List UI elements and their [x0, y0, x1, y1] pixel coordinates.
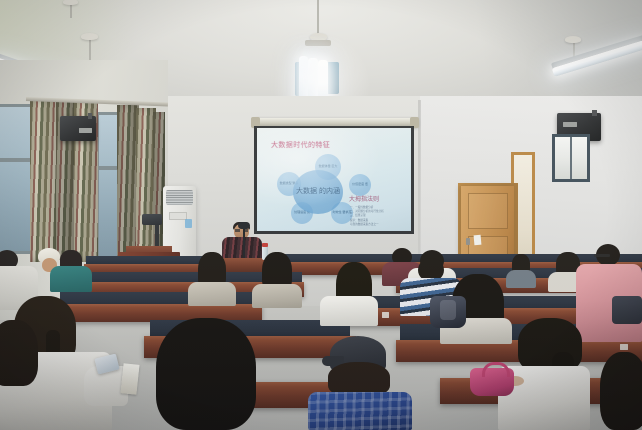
audience-torso-back-2 — [252, 284, 302, 308]
door-panel-upper — [468, 193, 508, 229]
audience-torso-white-blouse — [320, 296, 378, 326]
light-cap-left-far — [63, 0, 78, 5]
backpack-strap — [440, 300, 456, 320]
curtain-left-1 — [30, 100, 56, 262]
audience-hair-right-edge — [600, 352, 642, 430]
pink-handbag-handle — [482, 362, 510, 377]
presenter-glasses — [235, 229, 248, 232]
audience-torso-plaid — [308, 392, 412, 430]
light-cap-right-far — [565, 36, 581, 43]
desk-tag-c — [382, 312, 389, 318]
audience-torso-teal — [50, 266, 92, 292]
handbag-right — [612, 296, 642, 324]
audience-glasses-pink-shirt — [594, 254, 610, 257]
screen-glare — [257, 128, 411, 231]
speaker-bracket-left — [88, 113, 92, 119]
audience-torso-door-1 — [506, 270, 536, 288]
interior-window-mullion — [570, 137, 572, 179]
ac-grille — [166, 190, 193, 205]
microphone-stand — [243, 228, 245, 258]
light-cap-left-near — [81, 33, 98, 40]
audience-torso-back-1 — [188, 282, 236, 306]
projection-screen-surface: 大数据时代的特征 数据体量 巨大 数据类型 繁多 价值密度 低 处理速度 快 时… — [257, 128, 411, 231]
speaker-label-left — [79, 128, 92, 133]
notebook-front-left — [120, 363, 139, 395]
projection-screen-assembly: 大数据时代的特征 数据体量 巨大 数据类型 繁多 价值密度 低 处理速度 快 时… — [254, 126, 414, 234]
water-bottle-cap — [262, 243, 268, 247]
audience-hair-front-center — [156, 318, 256, 430]
microphone — [238, 222, 250, 229]
pendant-rod — [317, 0, 319, 36]
lecture-hall-photo: 大数据时代的特征 数据体量 巨大 数据类型 繁多 价值密度 低 处理速度 快 时… — [0, 0, 642, 430]
audience-hair-left-edge-front — [0, 320, 38, 386]
speaker-label-right — [563, 122, 577, 127]
desk-tag-d — [620, 344, 628, 350]
ac-badge — [185, 219, 192, 228]
speaker-bracket-right — [592, 110, 597, 116]
audience-hair-under-cap — [328, 362, 390, 396]
door-notice-paper — [474, 235, 482, 246]
projector — [142, 214, 162, 225]
door-handle[interactable] — [466, 238, 470, 245]
